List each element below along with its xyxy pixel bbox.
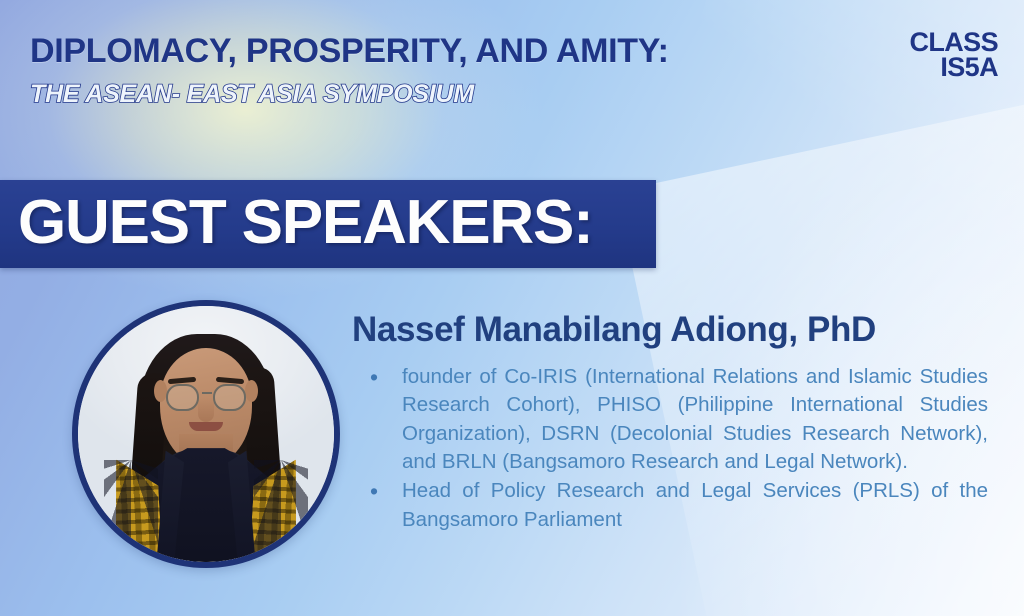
speaker-portrait-frame <box>72 300 340 568</box>
class-badge: CLASS IS5A <box>838 30 998 80</box>
portrait-eyeglass-bridge <box>202 392 212 394</box>
page-title: DIPLOMACY, PROSPERITY, AND AMITY: <box>30 32 669 71</box>
portrait-zigzag-motif-right <box>254 460 308 562</box>
speaker-portrait-photo <box>78 306 334 562</box>
portrait-eyeglass-left-lens <box>166 384 199 411</box>
class-badge-line2: IS5A <box>838 55 998 80</box>
speaker-info-block: Nassef Manabilang Adiong, PhD founder of… <box>352 310 988 535</box>
portrait-zigzag-motif-left <box>104 460 158 562</box>
portrait-mouth <box>189 422 223 431</box>
speaker-credentials-list: founder of Co-IRIS (International Relati… <box>352 363 988 534</box>
list-item: Head of Policy Research and Legal Servic… <box>352 477 988 534</box>
page-subtitle: THE ASEAN- EAST ASIA SYMPOSIUM <box>30 80 474 109</box>
speaker-name: Nassef Manabilang Adiong, PhD <box>352 310 988 349</box>
portrait-nose <box>198 398 214 422</box>
guest-speakers-banner: GUEST SPEAKERS: <box>0 180 656 268</box>
guest-speakers-banner-label: GUEST SPEAKERS: <box>18 187 593 258</box>
list-item: founder of Co-IRIS (International Relati… <box>352 363 988 476</box>
portrait-eyeglass-right-lens <box>213 384 246 411</box>
slide-canvas: DIPLOMACY, PROSPERITY, AND AMITY: THE AS… <box>0 0 1024 616</box>
